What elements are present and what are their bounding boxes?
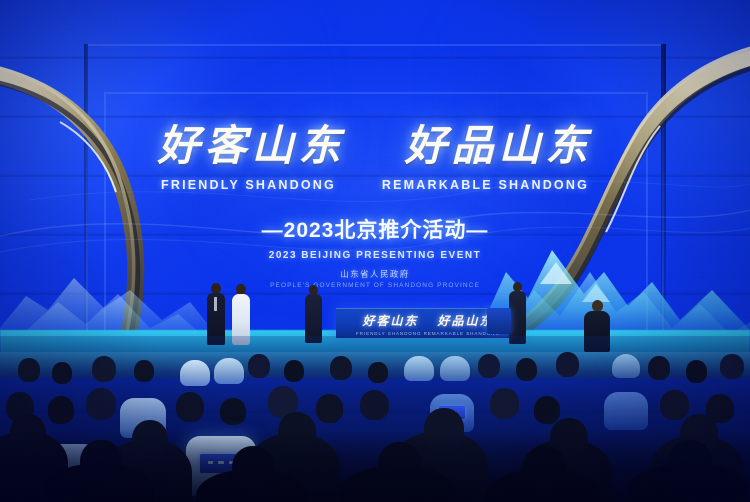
backdrop-title-block: 好客山东 好品山东 FRIENDLY SHANDONG REMARKABLE S… [0,126,750,261]
audience-head [48,396,74,424]
stage-person-speaker [509,282,527,344]
audience-head [330,356,352,380]
audience-head [316,394,343,423]
audience-head [284,360,304,382]
audience-area [0,336,750,502]
title-cn-right: 好品山东 [405,124,593,170]
foreground-shadow [0,430,750,502]
audience-head [86,388,116,420]
audience-head [720,354,744,379]
chair [180,360,210,386]
audience-head [490,388,519,419]
chair [404,356,434,381]
event-photo-scene: 好客山东 好品山东 FRIENDLY SHANDONG REMARKABLE S… [0,0,750,502]
podium-cn-right: 好品山东 [438,314,494,328]
audience-head [52,362,72,384]
audience-head [220,398,246,425]
main-title-english-row: FRIENDLY SHANDONG REMARKABLE SHANDONG [0,178,750,192]
title-en-right: REMARKABLE SHANDONG [382,178,589,192]
audience-head [18,358,40,382]
audience-head [648,356,670,380]
organizer-chinese: 山东省人民政府 [0,268,750,280]
organizer-english: PEOPLE'S GOVERNMENT OF SHANDONG PROVINCE [0,282,750,289]
audience-head [360,390,389,420]
main-title-chinese: 好客山东 好品山东 [0,126,750,168]
audience-head [556,352,579,377]
chair [214,358,244,384]
event-subtitle-chinese: —2023北京推介活动— [0,214,750,244]
title-en-left: FRIENDLY SHANDONG [161,178,336,192]
title-cn-left: 好客山东 [157,124,345,170]
audience-head [516,358,537,381]
chair [612,354,640,378]
podium-cn-left: 好客山东 [362,314,418,328]
audience-head [686,360,707,383]
audience-head [134,360,154,382]
audience-head [176,392,204,422]
event-subtitle-english: 2023 BEIJING PRESENTING EVENT [0,250,750,261]
lectern [487,308,511,334]
audience-head [478,354,500,378]
chair [440,356,470,381]
podium-banner-english: FRIENDLY SHANDONG REMARKABLE SHANDONG [356,331,500,336]
podium-banner-chinese: 好客山东 好品山东 [362,312,493,329]
audience-head [368,362,388,383]
audience-head [660,390,689,420]
audience-head [534,396,560,424]
audience-head [92,356,116,382]
chair [604,392,648,430]
stage-person-assistant [305,285,323,343]
audience-head [248,354,270,378]
